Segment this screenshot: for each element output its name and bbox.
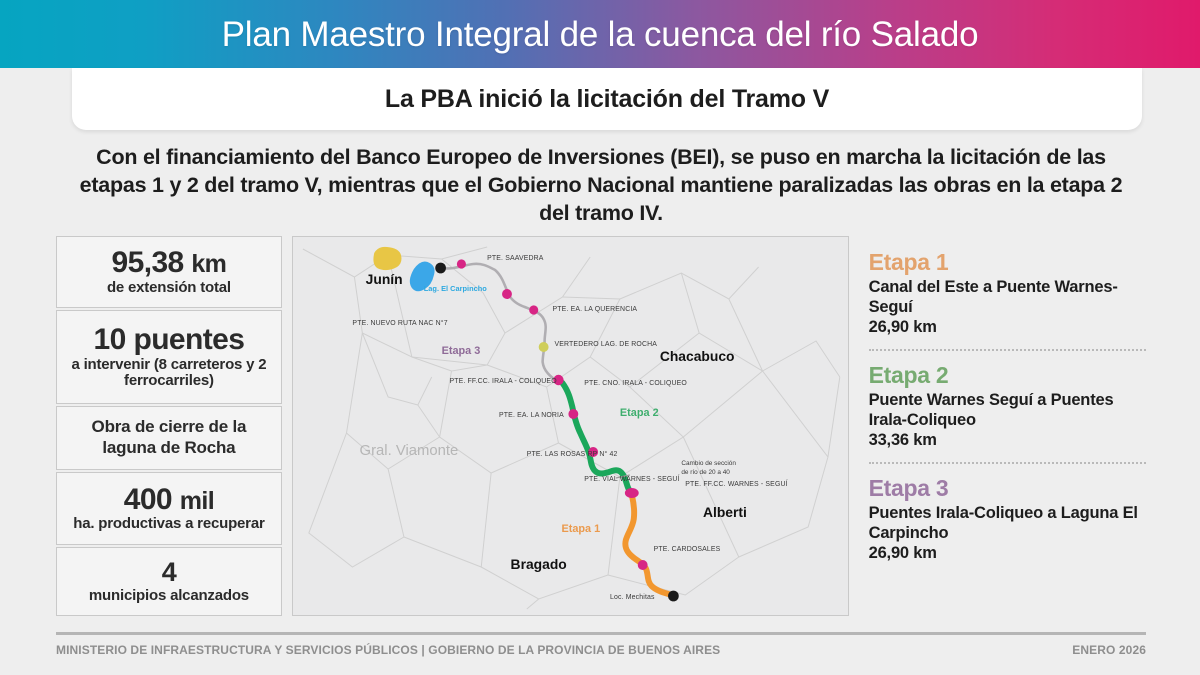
stat-number: 400 — [124, 483, 172, 516]
stat-number: 10 — [94, 323, 126, 356]
stat-card-hectares: 400 mil ha. productivas a recuperar — [56, 472, 282, 545]
page-title: Plan Maestro Integral de la cuenca del r… — [222, 17, 979, 52]
bridge-marker-la-querencia — [529, 305, 538, 314]
map-town-alberti: Alberti — [703, 504, 747, 520]
stat-card-extension: 95,38 km de extensión total — [56, 236, 282, 308]
stat-card-bridges: 10 puentes a intervenir (8 carreteros y … — [56, 310, 282, 403]
map-label-pte-ffcc-warnes: PTE. FF.CC. WARNES - SEGUÍ — [685, 479, 787, 488]
footer-divider — [56, 632, 1146, 635]
stat-number: 95,38 — [112, 246, 184, 279]
stat-value: 95,38 km — [112, 247, 227, 279]
junin-town-patch — [373, 247, 401, 270]
etapa-item-2: Etapa 2 Puente Warnes Seguí a Puentes Ir… — [869, 363, 1146, 462]
etapas-panel: Etapa 1 Canal del Este a Puente Warnes-S… — [859, 236, 1146, 616]
stat-caption: de extensión total — [107, 280, 231, 297]
bridge-marker-warnes-segui — [625, 488, 639, 498]
map-label-lagoon: Lag. El Carpincho — [424, 284, 488, 293]
stat-caption: a intervenir (8 carreteros y 2 ferrocarr… — [65, 357, 273, 391]
map-panel: Junín Chacabuco Alberti Bragado Gral. Vi… — [292, 236, 849, 616]
stat-value: 10 puentes — [94, 324, 245, 356]
subtitle-text: La PBA inició la licitación del Tramo V — [385, 85, 829, 114]
endpoint-marker-south — [668, 591, 679, 602]
map-label-pte-saavedra: PTE. SAAVEDRA — [487, 255, 544, 262]
endpoint-marker-north — [435, 263, 446, 274]
stat-card-municipalities: 4 municipios alcanzados — [56, 547, 282, 616]
footer-date: ENERO 2026 — [1072, 643, 1146, 657]
map-label-pte-cardosales: PTE. CARDOSALES — [653, 546, 720, 553]
map-note-section-change: Cambio de sección — [681, 460, 736, 467]
etapa-divider — [869, 462, 1146, 464]
map-label-pte-vial-warnes: PTE. VIAL WARNES - SEGUÍ — [584, 474, 679, 483]
stat-unit: puentes — [133, 323, 244, 356]
header-bar: Plan Maestro Integral de la cuenca del r… — [0, 0, 1200, 68]
etapa-description: Puentes Irala-Coliqueo a Laguna El Carpi… — [869, 503, 1146, 543]
map-label-vertedero-rocha: VERTEDERO LAG. DE ROCHA — [554, 341, 657, 348]
stats-panel: 95,38 km de extensión total 10 puentes a… — [56, 236, 282, 616]
bridge-marker-cardosales — [638, 560, 648, 570]
footer: MINISTERIO DE INFRAESTRUCTURA Y SERVICIO… — [56, 643, 1146, 657]
route-etapa-2 — [562, 383, 629, 491]
main-content: 95,38 km de extensión total 10 puentes a… — [56, 236, 1146, 616]
stat-value: 4 — [162, 558, 176, 587]
etapa-description: Puente Warnes Seguí a Puentes Irala-Coli… — [869, 390, 1146, 430]
etapa-divider — [869, 349, 1146, 351]
stat-caption: municipios alcanzados — [89, 588, 249, 605]
map-label-pte-ffcc-irala: PTE. FF.CC. IRALA - COLIQUEO — [449, 378, 557, 385]
bridge-marker-la-noria — [568, 409, 578, 419]
bridge-marker-nuevo-ruta-7 — [502, 289, 512, 299]
map-label-pte-las-rosas: PTE. LAS ROSAS RP N° 42 — [527, 450, 618, 458]
map-label-etapa-2: Etapa 2 — [620, 407, 659, 419]
etapa-title: Etapa 1 — [869, 250, 1146, 275]
map-town-junin: Junín — [366, 271, 403, 287]
stat-card-rocha-closure: Obra de cierre de la laguna de Rocha — [56, 406, 282, 470]
district-boundaries — [303, 247, 840, 609]
etapa-title: Etapa 3 — [869, 476, 1146, 501]
stat-value: 400 mil — [124, 484, 214, 516]
etapa-item-1: Etapa 1 Canal del Este a Puente Warnes-S… — [869, 250, 1146, 349]
map-label-etapa-1: Etapa 1 — [561, 523, 600, 535]
stat-number: 4 — [162, 557, 176, 587]
map-town-chacabuco: Chacabuco — [660, 348, 735, 364]
stat-unit: mil — [180, 487, 214, 515]
bridge-marker-saavedra — [457, 259, 466, 268]
footer-ministry: MINISTERIO DE INFRAESTRUCTURA Y SERVICIO… — [56, 643, 720, 657]
map-note-section-change-2: de río de 20 a 40 — [681, 469, 730, 476]
etapa-length: 26,90 km — [869, 543, 1146, 563]
map-label-pte-la-querencia: PTE. EA. LA QUERENCIA — [552, 306, 637, 313]
stat-heading: Obra de cierre de la laguna de Rocha — [65, 417, 273, 458]
stat-unit: km — [191, 250, 226, 278]
subtitle-card: La PBA inició la licitación del Tramo V — [72, 68, 1142, 130]
map-label-loc-mechitas: Loc. Mechitas — [610, 594, 655, 601]
etapa-length: 33,36 km — [869, 430, 1146, 450]
map-town-bragado: Bragado — [510, 556, 566, 572]
map-label-pte-cno-irala: PTE. CNO. IRALA - COLIQUEO — [584, 380, 687, 387]
salado-basin-map: Junín Chacabuco Alberti Bragado Gral. Vi… — [293, 237, 848, 615]
spillway-marker-vertedero-rocha — [539, 342, 549, 352]
etapa-length: 26,90 km — [869, 317, 1146, 337]
map-label-etapa-3: Etapa 3 — [441, 345, 480, 357]
map-label-pte-nuevo-ruta-7: PTE. NUEVO RUTA NAC N°7 — [352, 319, 447, 327]
lead-paragraph: Con el financiamiento del Banco Europeo … — [72, 144, 1130, 228]
etapa-description: Canal del Este a Puente Warnes-Seguí — [869, 277, 1146, 317]
etapa-title: Etapa 2 — [869, 363, 1146, 388]
stat-caption: ha. productivas a recuperar — [73, 516, 264, 533]
map-label-pte-la-noria: PTE. EA. LA NORIA — [499, 412, 564, 419]
etapa-item-3: Etapa 3 Puentes Irala-Coliqueo a Laguna … — [869, 476, 1146, 575]
map-town-gral-viamonte: Gral. Viamonte — [359, 442, 458, 459]
